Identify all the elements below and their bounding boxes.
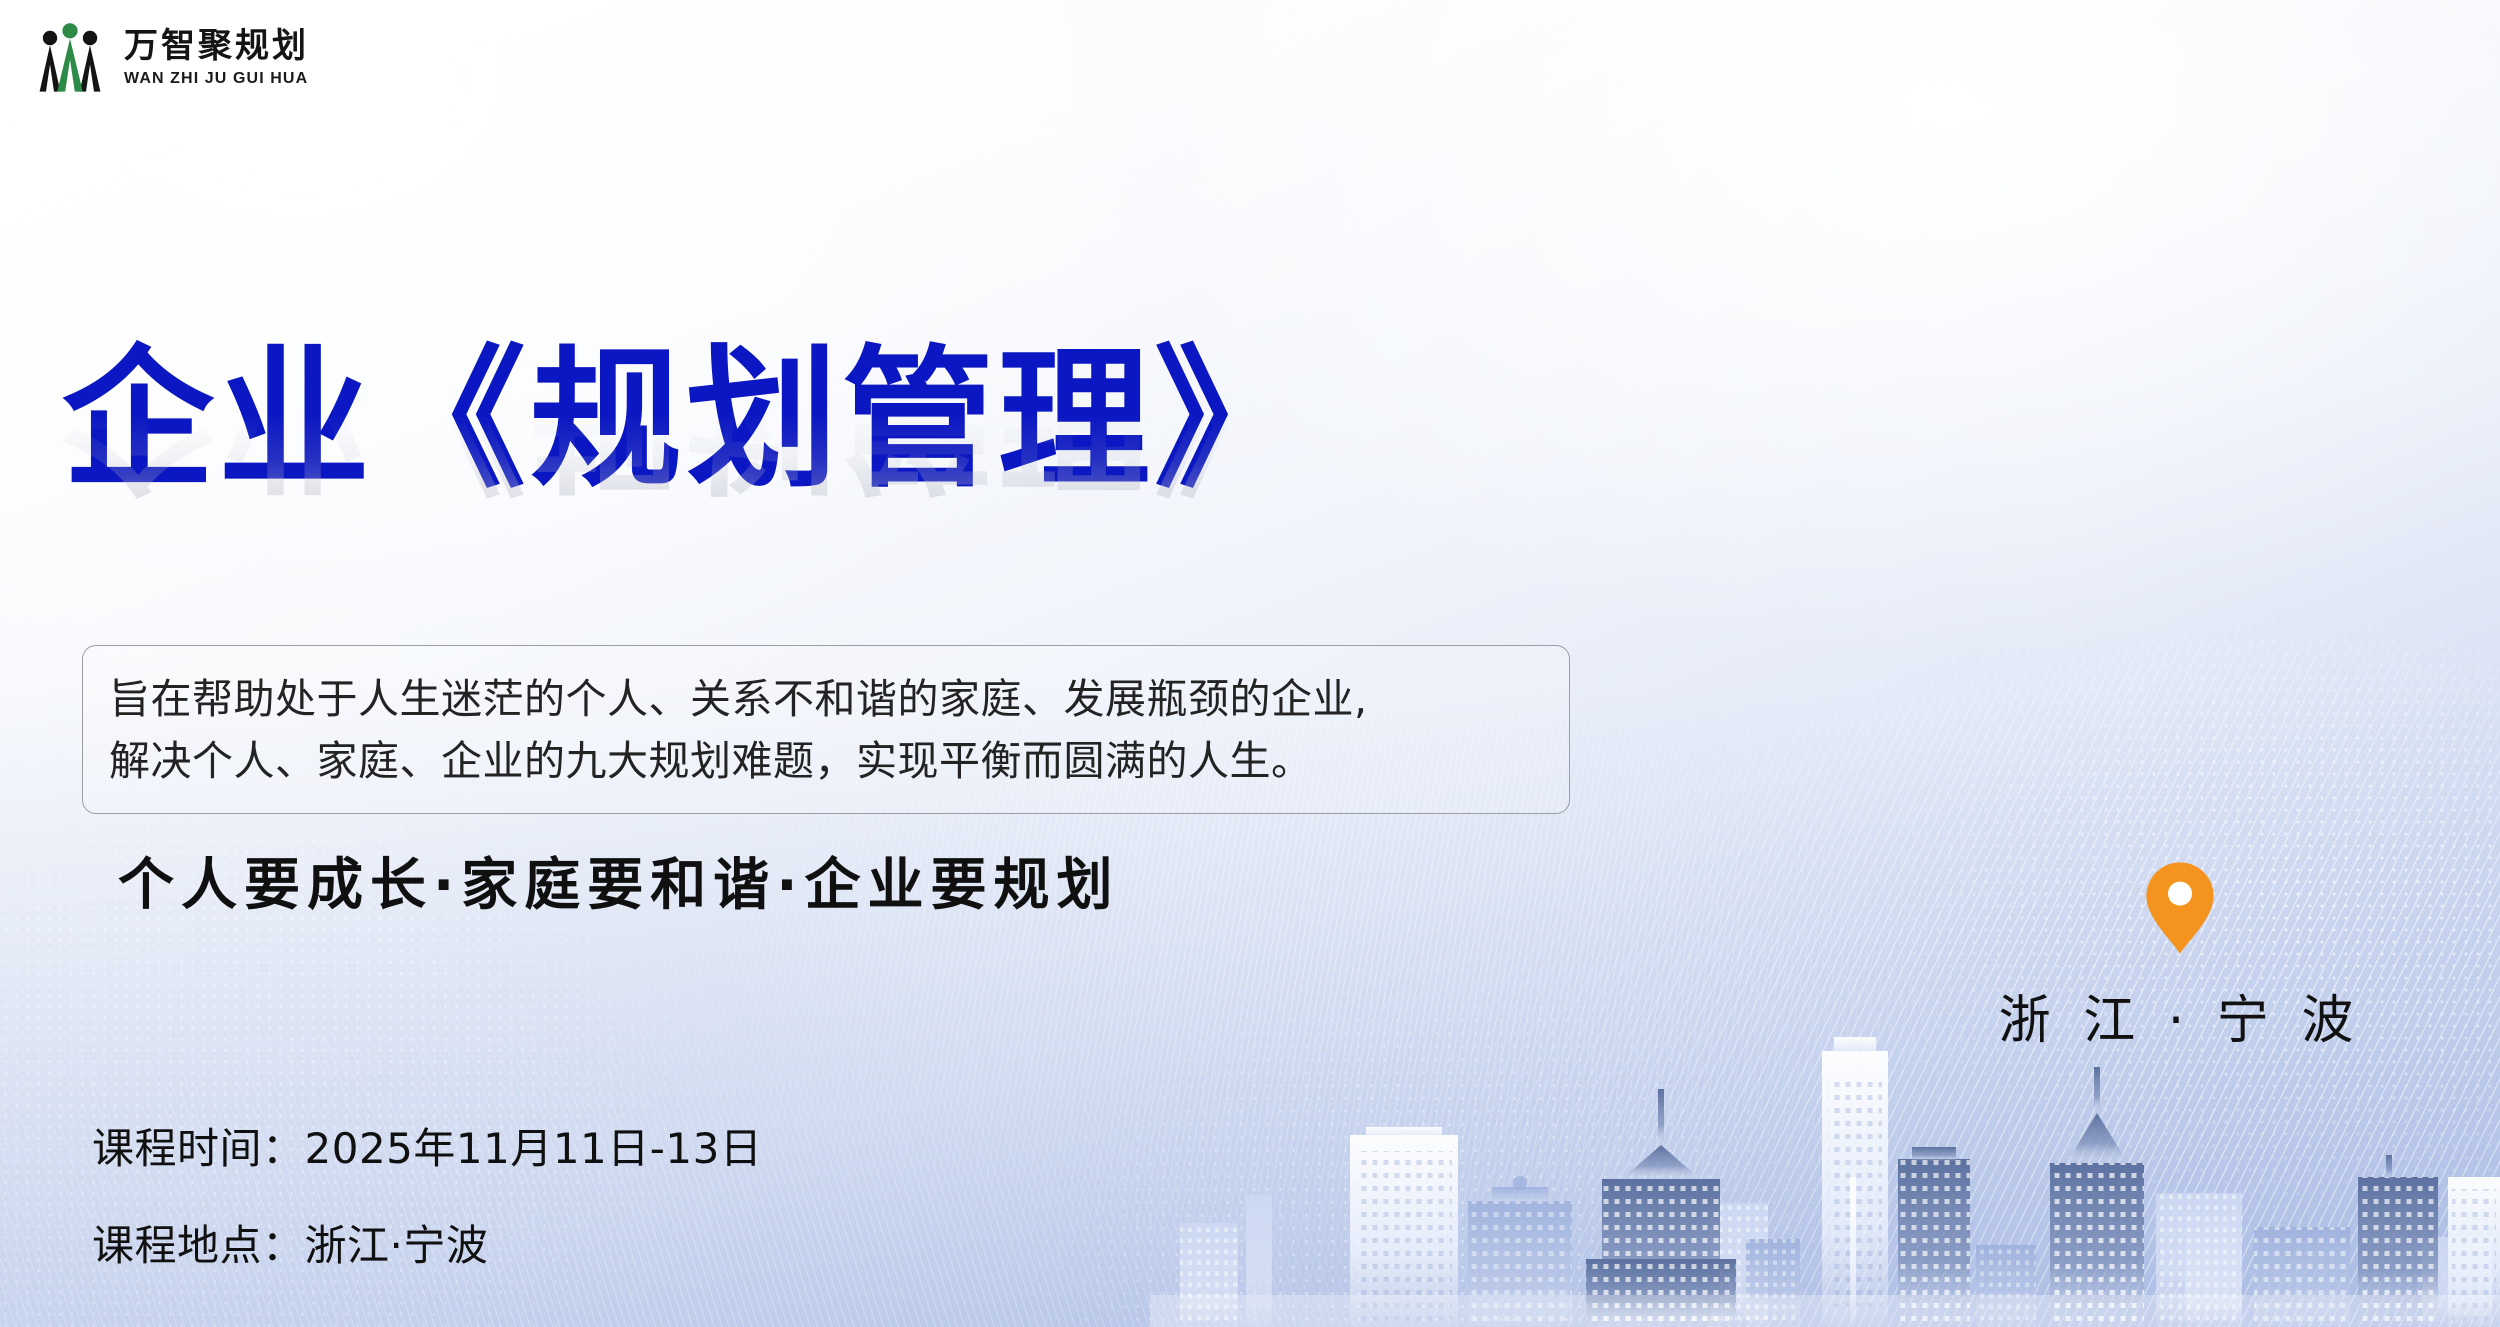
hero-title-block: 企业《规划管理》 企业《规划管理》 xyxy=(62,330,1622,641)
description-line-2: 解决个人、家庭、企业的九大规划难题，实现平衡而圆满的人生。 xyxy=(109,730,1543,792)
poster-canvas: 万智聚规划 WAN ZHI JU GUI HUA 企业《规划管理》 企业《规划管… xyxy=(0,0,2500,1327)
description-line-1: 旨在帮助处于人生迷茫的个人、关系不和谐的家庭、发展瓶颈的企业, xyxy=(109,668,1543,730)
location-name: 浙 江 · 宁 波 xyxy=(1999,978,2362,1053)
course-time: 课程时间：2025年11月11日-13日 xyxy=(92,1115,762,1176)
map-pin-icon xyxy=(2144,860,2216,956)
brand-logo-text: 万智聚规划 WAN ZHI JU GUI HUA xyxy=(124,30,309,87)
tagline: 个人要成长·家庭要和谐·企业要规划 xyxy=(118,840,1120,921)
course-info-block: 课程时间：2025年11月11日-13日 课程地点：浙江·宁波 xyxy=(92,1115,762,1273)
brand-name-cn: 万智聚规划 xyxy=(124,30,309,64)
three-people-logo-icon xyxy=(30,18,110,98)
brand-logo: 万智聚规划 WAN ZHI JU GUI HUA xyxy=(30,18,309,98)
city-skyline-illustration xyxy=(1150,1027,2500,1327)
course-place: 课程地点：浙江·宁波 xyxy=(92,1212,762,1273)
brand-name-en: WAN ZHI JU GUI HUA xyxy=(124,71,309,87)
location-badge: 浙 江 · 宁 波 xyxy=(1900,860,2460,1053)
page-title-reflection: 企业《规划管理》 xyxy=(62,377,1622,509)
description-box: 旨在帮助处于人生迷茫的个人、关系不和谐的家庭、发展瓶颈的企业, 解决个人、家庭、… xyxy=(82,645,1570,814)
